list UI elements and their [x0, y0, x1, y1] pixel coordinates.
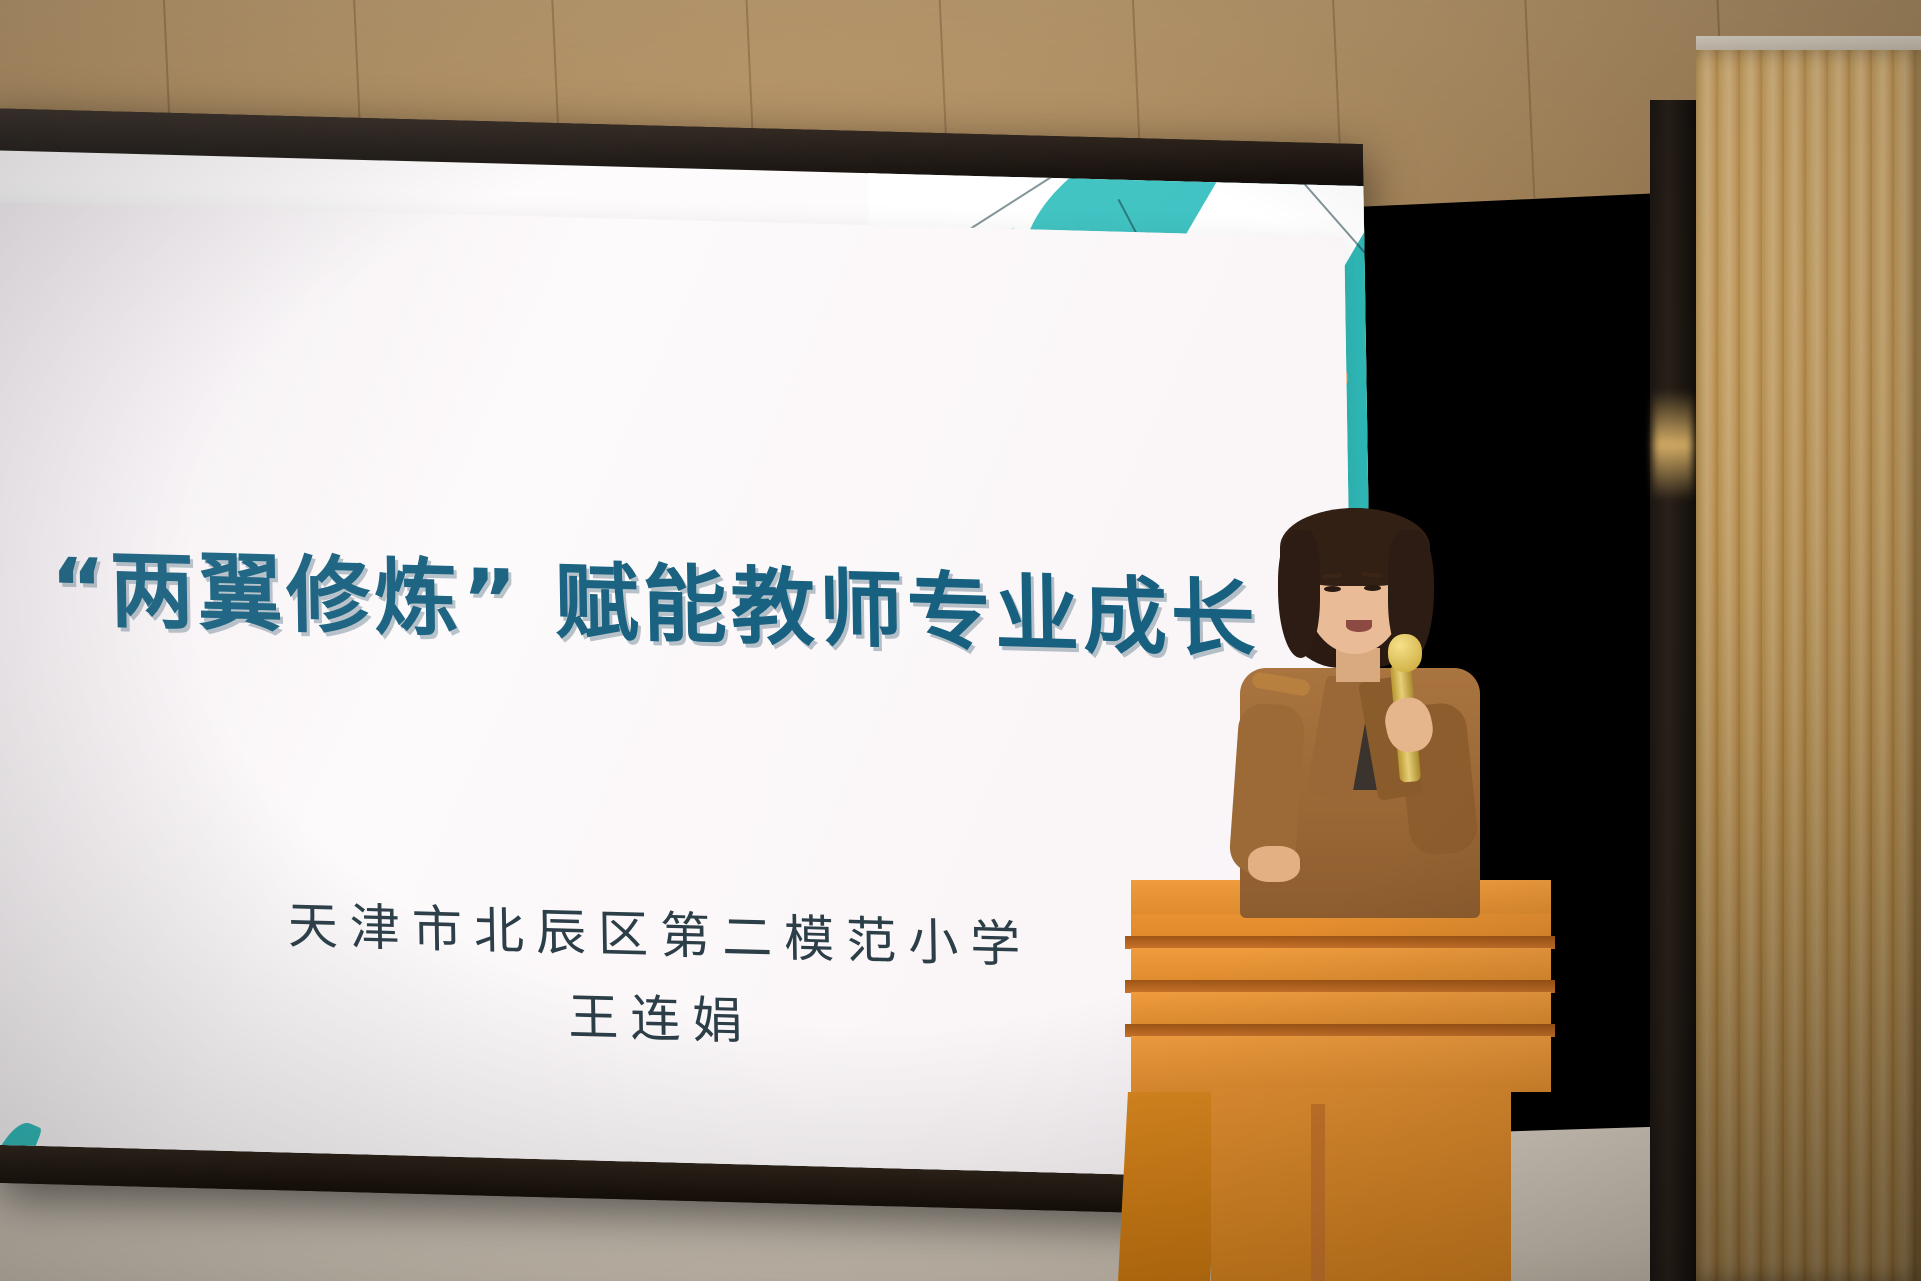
podium-seam	[1311, 1104, 1325, 1281]
podium-band	[1131, 948, 1551, 982]
speaker-hand	[1248, 846, 1300, 882]
podium-column	[1211, 1088, 1511, 1281]
speaker-hair-side	[1278, 530, 1320, 658]
microphone-icon	[1388, 634, 1422, 672]
slatted-wood-wall	[1696, 50, 1921, 1281]
speaker-mouth	[1346, 620, 1372, 632]
wall-light-strip	[1653, 390, 1693, 500]
speaker-person	[1228, 508, 1488, 908]
speaker-eye	[1364, 585, 1381, 591]
podium-side-panel	[1118, 1092, 1220, 1281]
podium-band	[1131, 992, 1551, 1026]
presentation-photo: “两翼修炼” 赋能教师专业成长 天津市北辰区第二模范小学 王连娟	[0, 0, 1921, 1281]
speaker-eye	[1324, 586, 1341, 592]
podium	[1125, 880, 1555, 1281]
podium-band	[1131, 1036, 1551, 1092]
wall-recess-shadow	[1650, 100, 1696, 1281]
